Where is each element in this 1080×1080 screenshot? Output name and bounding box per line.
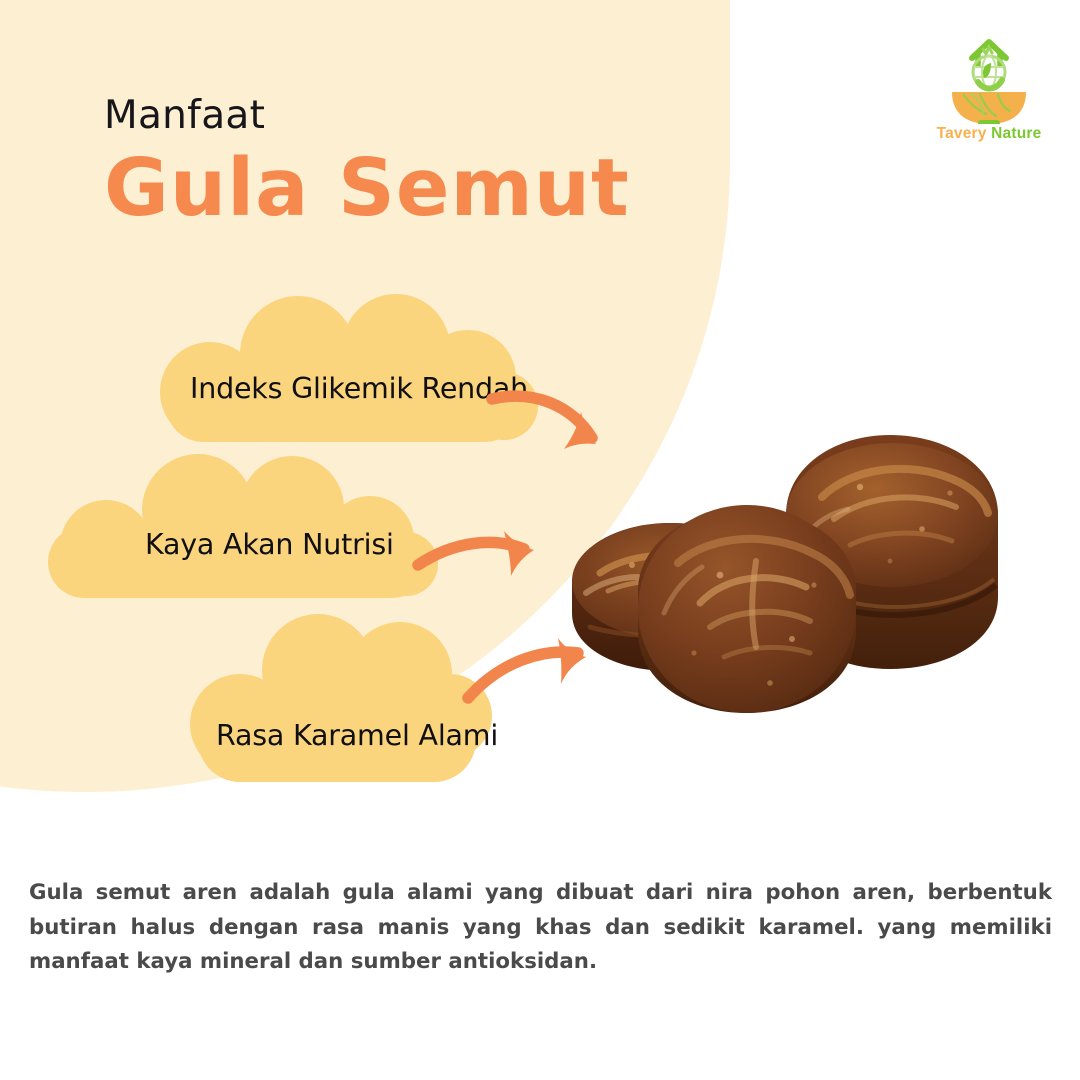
product-image-palm-sugar <box>560 395 1020 735</box>
page-title: Gula Semut <box>104 149 724 228</box>
cloud-shape-2 <box>88 452 438 602</box>
cloud-shape-3 <box>182 612 494 787</box>
benefit-arrow-2 <box>412 525 552 589</box>
brand-name: Tavery Nature <box>926 125 1052 143</box>
brand-logo[interactable]: Tavery Nature <box>926 32 1052 143</box>
header-title-block: Manfaat Gula Semut <box>104 96 724 228</box>
page-eyebrow: Manfaat <box>104 96 724 135</box>
brand-name-second: Nature <box>991 125 1041 142</box>
benefit-cloud-1[interactable]: Indeks Glikemik Rendah <box>148 296 540 448</box>
benefit-cloud-2-label: Kaya Akan Nutrisi <box>145 528 394 561</box>
description-paragraph: Gula semut aren adalah gula alami yang d… <box>29 876 1052 980</box>
benefit-cloud-3[interactable]: Rasa Karamel Alami <box>182 612 494 787</box>
benefit-cloud-2[interactable]: Kaya Akan Nutrisi <box>88 452 438 602</box>
benefit-cloud-3-label: Rasa Karamel Alami <box>216 719 498 752</box>
palm-sugar-discs-illustration <box>560 395 1020 735</box>
curved-arrow-right-icon <box>412 525 552 589</box>
benefit-cloud-1-label: Indeks Glikemik Rendah <box>190 372 528 405</box>
infographic-canvas: Manfaat Gula Semut Tavery Nature <box>0 0 1080 1080</box>
brand-name-first: Tavery <box>937 125 987 142</box>
bowl-house-leaf-icon <box>926 32 1052 124</box>
sugar-disc-front <box>638 505 856 713</box>
